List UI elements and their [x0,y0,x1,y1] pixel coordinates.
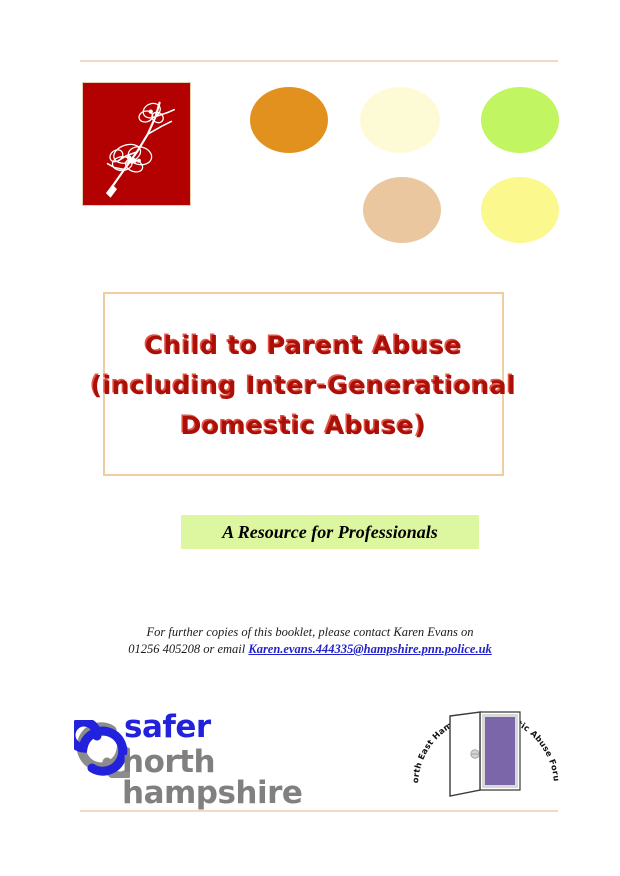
domestic-abuse-forum-logo: North East Hampshire Domestic Abuse Foru… [398,686,573,798]
title-line-1: Child to Parent Abuse [145,326,462,366]
contact-block: For further copies of this booklet, plea… [60,624,560,658]
contact-line-2: 01256 405208 or email Karen.evans.444335… [60,641,560,658]
subtitle-text: A Resource for Professionals [222,522,438,543]
decor-blob-orange [250,87,328,153]
title-line-3: Domestic Abuse) [181,406,427,446]
title-box: Child to Parent Abuse (including Inter-G… [103,292,504,476]
subtitle-banner: A Resource for Professionals [181,515,479,549]
decor-blob-cream [360,87,440,153]
decorative-band [0,60,620,260]
title-line-2: (including Inter-Generational [91,366,516,406]
contact-line-1: For further copies of this booklet, plea… [60,624,560,641]
cover-page: Child to Parent Abuse (including Inter-G… [0,0,620,876]
bottom-divider-rule [80,810,558,812]
contact-email-link[interactable]: Karen.evans.444335@hampshire.pnn.police.… [248,642,491,656]
decor-blob-tan [363,177,441,243]
safer-word: safer [124,712,382,743]
safer-north-hampshire-logo: safer north hampshire [74,712,374,784]
north-hampshire-word: north hampshire [122,747,382,809]
decor-blob-yellow [481,177,559,243]
safer-wordmark: safer north hampshire [122,712,382,809]
cherry-blossom-image [82,82,191,206]
decor-blob-lime [481,87,559,153]
contact-phone-text: 01256 405208 or email [128,642,248,656]
